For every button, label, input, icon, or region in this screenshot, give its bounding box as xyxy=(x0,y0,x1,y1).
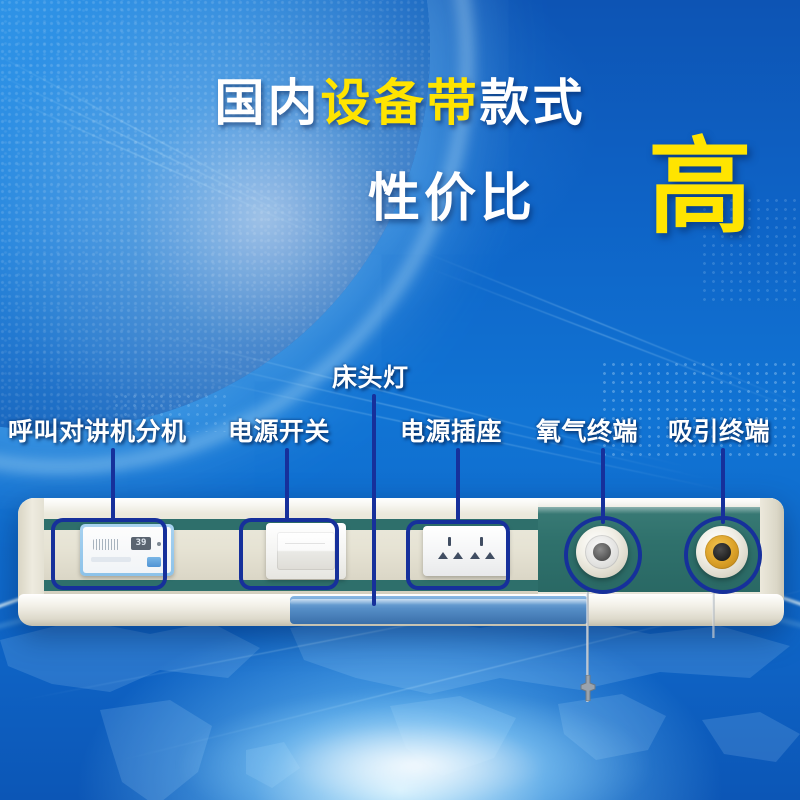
callout-oxygen-terminal: 氧气终端 xyxy=(536,412,638,448)
callout-suction-terminal-label: 吸引终端 xyxy=(668,418,770,446)
leader-line-intercom xyxy=(111,448,115,520)
highlight-circle-oxygen xyxy=(564,516,642,594)
panel-end-cap-left xyxy=(18,498,44,606)
headline-part-1: 国内 xyxy=(215,75,321,131)
leader-line-power-socket xyxy=(456,448,460,522)
callout-bed-lamp-label: 床头灯 xyxy=(332,364,409,392)
callout-intercom-label: 呼叫对讲机分机 xyxy=(8,418,187,446)
highlight-circle-suction xyxy=(684,516,762,594)
headline-part-3: 款式 xyxy=(480,75,586,131)
leader-line-suction-terminal xyxy=(721,448,725,524)
suction-hose-cord xyxy=(712,592,715,638)
callout-intercom: 呼叫对讲机分机 xyxy=(8,412,187,448)
headline-part-2: 设备带 xyxy=(321,75,480,131)
leader-line-bed-lamp xyxy=(372,394,376,606)
headline-block: 国内设备带款式 性价比 高 xyxy=(0,78,800,240)
callout-suction-terminal: 吸引终端 xyxy=(668,412,770,448)
callout-power-socket: 电源插座 xyxy=(400,412,502,448)
callout-bed-lamp: 床头灯 xyxy=(332,358,409,394)
headline-emphasis: 高 xyxy=(648,136,752,240)
panel-rail-blue-section xyxy=(290,596,588,624)
pull-cord-handle xyxy=(575,675,601,701)
highlight-box-intercom xyxy=(51,518,167,590)
panel-end-cap-right xyxy=(760,498,784,606)
highlight-box-power-socket xyxy=(406,520,510,590)
callout-power-socket-label: 电源插座 xyxy=(400,418,502,446)
headline-line-1: 国内设备带款式 xyxy=(0,78,800,128)
highlight-box-power-switch xyxy=(239,518,339,590)
callout-power-switch-label: 电源开关 xyxy=(228,418,330,446)
promo-banner: 国内设备带款式 性价比 高 呼叫对讲机分机 电源开关 床头灯 电源插座 氧气终端… xyxy=(0,0,800,800)
callout-power-switch: 电源开关 xyxy=(228,412,330,448)
headline-subtext: 性价比 xyxy=(368,156,536,231)
leader-line-oxygen-terminal xyxy=(601,448,605,524)
callout-oxygen-terminal-label: 氧气终端 xyxy=(536,418,638,446)
headline-line-2: 性价比 高 xyxy=(0,150,800,240)
horizon-glow xyxy=(180,690,650,800)
panel-top-highlight xyxy=(18,498,784,514)
leader-line-power-switch xyxy=(285,448,289,520)
